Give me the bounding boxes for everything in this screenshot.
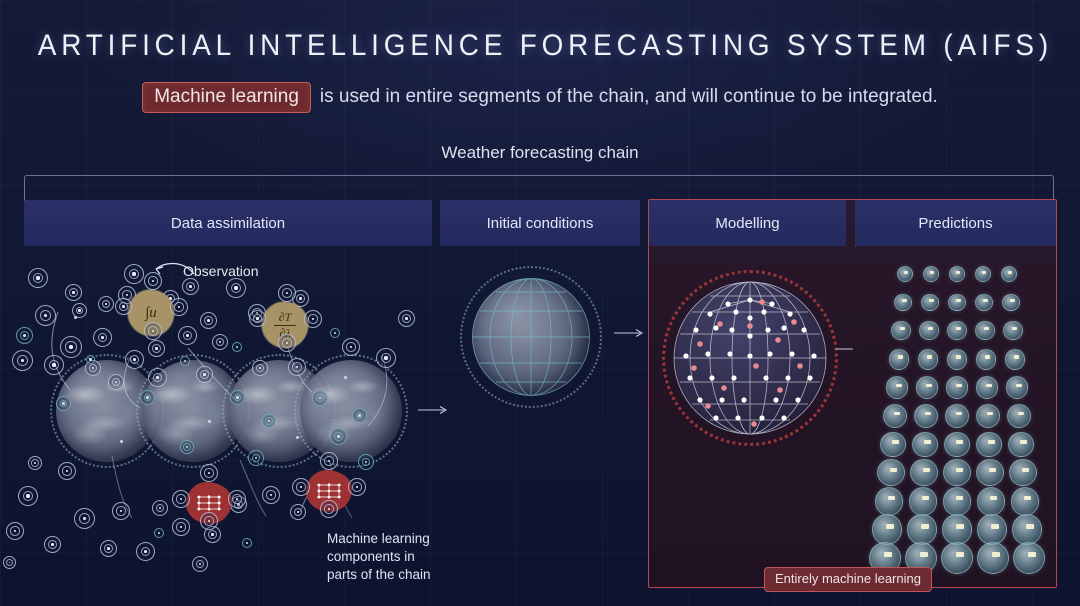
observation-ring-icon bbox=[180, 440, 194, 454]
observation-ring-icon bbox=[18, 486, 38, 506]
observation-ring-icon bbox=[152, 500, 168, 516]
observation-ring-icon bbox=[16, 327, 33, 344]
observation-dot-icon bbox=[180, 356, 190, 366]
observation-ring-icon bbox=[278, 334, 296, 352]
observation-ring-icon bbox=[182, 278, 199, 295]
observation-ring-icon bbox=[98, 296, 114, 312]
prediction-globe-icon bbox=[1011, 487, 1040, 516]
prediction-globe-icon bbox=[942, 514, 972, 544]
prediction-globe-icon bbox=[1002, 294, 1020, 312]
prediction-globe-icon bbox=[907, 514, 937, 544]
observation-ring-icon bbox=[74, 508, 95, 529]
prediction-globe-icon bbox=[897, 266, 913, 282]
prediction-globe-icon bbox=[918, 349, 939, 370]
observation-ring-icon bbox=[58, 462, 76, 480]
observation-ring-icon bbox=[136, 542, 155, 561]
observation-dot-icon bbox=[74, 316, 77, 319]
prediction-globe-icon bbox=[944, 432, 970, 458]
observation-ring-icon bbox=[288, 358, 306, 376]
predictions-globe-grid bbox=[859, 262, 1055, 582]
prediction-globe-icon bbox=[909, 487, 938, 516]
prediction-globe-icon bbox=[914, 404, 938, 428]
prediction-globe-icon bbox=[872, 514, 902, 544]
observation-ring-icon bbox=[192, 556, 208, 572]
observation-ring-icon bbox=[376, 348, 396, 368]
prediction-globe-icon bbox=[886, 376, 908, 398]
observation-ring-icon bbox=[35, 305, 56, 326]
prediction-globe-icon bbox=[916, 376, 938, 398]
observation-label: Observation bbox=[183, 263, 258, 279]
prediction-globe-icon bbox=[943, 487, 972, 516]
observation-ring-icon bbox=[228, 490, 246, 508]
observation-ring-icon bbox=[6, 522, 24, 540]
observation-ring-icon bbox=[292, 478, 310, 496]
panel-predictions bbox=[855, 248, 1055, 586]
observation-ring-icon bbox=[304, 310, 322, 328]
prediction-globe-icon bbox=[1013, 542, 1045, 574]
observation-ring-icon bbox=[230, 390, 245, 405]
observation-ring-icon bbox=[3, 556, 16, 569]
observation-ring-icon bbox=[100, 540, 117, 557]
panel-modelling bbox=[650, 248, 853, 586]
observation-ring-icon bbox=[290, 504, 306, 520]
prediction-globe-icon bbox=[977, 487, 1006, 516]
observation-ring-icon bbox=[12, 350, 33, 371]
observation-ring-icon bbox=[312, 390, 328, 406]
observation-ring-icon bbox=[44, 536, 61, 553]
stage-header-initial-conditions[interactable]: Initial conditions bbox=[440, 200, 640, 246]
prediction-globe-icon bbox=[921, 294, 939, 312]
observation-ring-icon bbox=[170, 298, 188, 316]
arrow-right-icon bbox=[418, 405, 450, 415]
subtitle-text: is used in entire segments of the chain,… bbox=[320, 86, 938, 108]
chain-label: Weather forecasting chain bbox=[0, 143, 1080, 163]
observation-ring-icon bbox=[200, 464, 218, 482]
prediction-globe-icon bbox=[910, 459, 937, 486]
observation-ring-icon bbox=[352, 408, 367, 423]
observation-ring-icon bbox=[212, 334, 228, 350]
observation-ring-icon bbox=[108, 374, 124, 390]
prediction-globe-icon bbox=[1003, 321, 1022, 340]
machine-learning-badge[interactable]: Machine learning bbox=[142, 82, 311, 113]
arrow-right-icon bbox=[614, 328, 646, 338]
observation-ring-icon bbox=[200, 312, 217, 329]
arrow-right-icon bbox=[836, 344, 853, 354]
observation-ring-icon bbox=[330, 428, 347, 445]
observation-ring-icon bbox=[348, 478, 366, 496]
prediction-globe-icon bbox=[947, 321, 966, 340]
observation-ring-icon bbox=[358, 454, 374, 470]
prediction-globe-icon bbox=[1006, 376, 1028, 398]
observation-dot-icon bbox=[208, 420, 211, 423]
observation-ring-icon bbox=[172, 518, 190, 536]
stage-header-modelling[interactable]: Modelling bbox=[649, 200, 846, 246]
observation-ring-icon bbox=[249, 310, 266, 327]
prediction-globe-icon bbox=[943, 459, 970, 486]
observation-dot-icon bbox=[120, 440, 123, 443]
subtitle-row: Machine learning is used in entire segme… bbox=[0, 82, 1080, 113]
observation-ring-icon bbox=[262, 486, 280, 504]
prediction-globe-icon bbox=[891, 321, 910, 340]
prediction-globe-icon bbox=[976, 349, 997, 370]
observation-ring-icon bbox=[252, 360, 268, 376]
prediction-globe-icon bbox=[945, 404, 969, 428]
prediction-globe-icon bbox=[912, 432, 938, 458]
observation-ring-icon bbox=[140, 390, 155, 405]
prediction-globe-icon bbox=[977, 514, 1007, 544]
observation-ring-icon bbox=[112, 502, 130, 520]
prediction-globe-icon bbox=[875, 487, 904, 516]
observation-ring-icon bbox=[320, 452, 338, 470]
observation-ring-icon bbox=[60, 336, 82, 358]
stage-header-predictions[interactable]: Predictions bbox=[855, 200, 1056, 246]
chain-bracket bbox=[24, 175, 1054, 201]
observation-dot-icon bbox=[242, 538, 252, 548]
prediction-globe-icon bbox=[923, 266, 939, 282]
observation-ring-icon bbox=[144, 272, 162, 290]
prediction-globe-icon bbox=[1008, 432, 1034, 458]
observation-dot-icon bbox=[330, 328, 340, 338]
prediction-globe-icon bbox=[1005, 349, 1026, 370]
entirely-machine-learning-badge[interactable]: Entirely machine learning bbox=[764, 567, 932, 592]
prediction-globe-icon bbox=[883, 404, 907, 428]
aifs-infographic: ARTIFICIAL INTELLIGENCE FORECASTING SYST… bbox=[0, 0, 1080, 606]
observation-ring-icon bbox=[144, 322, 162, 340]
observation-ring-icon bbox=[342, 338, 360, 356]
prediction-globe-icon bbox=[975, 266, 991, 282]
observation-ring-icon bbox=[65, 284, 82, 301]
observation-ring-icon bbox=[278, 284, 296, 302]
observation-ring-icon bbox=[125, 350, 144, 369]
prediction-globe-icon bbox=[976, 376, 998, 398]
observation-ring-icon bbox=[44, 355, 64, 375]
observation-ring-icon bbox=[196, 366, 213, 383]
prediction-globe-icon bbox=[1001, 266, 1017, 282]
modelling-sphere-icon bbox=[670, 278, 830, 438]
observation-dot-icon bbox=[344, 376, 347, 379]
observation-ring-icon bbox=[200, 512, 218, 530]
observation-ring-icon bbox=[178, 326, 197, 345]
observation-ring-icon bbox=[172, 490, 190, 508]
prediction-globe-icon bbox=[919, 321, 938, 340]
ml-components-callout: Machine learning components in parts of … bbox=[327, 530, 447, 583]
observation-ring-icon bbox=[148, 340, 165, 357]
prediction-globe-icon bbox=[976, 404, 1000, 428]
prediction-globe-icon bbox=[946, 376, 968, 398]
prediction-globe-icon bbox=[975, 321, 994, 340]
globe-icon bbox=[472, 278, 590, 396]
observation-dot-icon bbox=[232, 342, 242, 352]
prediction-globe-icon bbox=[949, 266, 965, 282]
observation-ring-icon bbox=[56, 396, 71, 411]
prediction-globe-icon bbox=[975, 294, 993, 312]
prediction-globe-icon bbox=[941, 542, 973, 574]
prediction-globe-icon bbox=[977, 542, 1009, 574]
observation-dot-icon bbox=[296, 436, 299, 439]
observation-ring-icon bbox=[320, 500, 338, 518]
latitude-longitude-grid bbox=[472, 278, 590, 396]
prediction-globe-icon bbox=[947, 349, 968, 370]
observation-dot-icon bbox=[86, 355, 95, 364]
prediction-globe-icon bbox=[877, 459, 904, 486]
prediction-globe-icon bbox=[976, 459, 1003, 486]
prediction-globe-icon bbox=[894, 294, 912, 312]
prediction-globe-icon bbox=[1012, 514, 1042, 544]
observation-ring-icon bbox=[262, 414, 276, 428]
observation-ring-icon bbox=[148, 368, 167, 387]
observation-ring-icon bbox=[398, 310, 415, 327]
math-badge-numerator: ∂T bbox=[279, 311, 292, 323]
observation-ring-icon bbox=[28, 456, 42, 470]
page-title: ARTIFICIAL INTELLIGENCE FORECASTING SYST… bbox=[38, 29, 1042, 63]
prediction-globe-icon bbox=[1007, 404, 1031, 428]
observation-ring-icon bbox=[124, 264, 144, 284]
prediction-globe-icon bbox=[976, 432, 1002, 458]
prediction-globe-icon bbox=[948, 294, 966, 312]
math-badge-glyph: ∫u bbox=[145, 305, 157, 322]
observation-ring-icon bbox=[93, 328, 112, 347]
observation-ring-icon bbox=[115, 298, 132, 315]
prediction-globe-icon bbox=[1009, 459, 1036, 486]
observation-ring-icon bbox=[248, 450, 264, 466]
prediction-globe-icon bbox=[880, 432, 906, 458]
stage-header-data-assimilation[interactable]: Data assimilation bbox=[24, 200, 432, 246]
prediction-globe-icon bbox=[889, 349, 910, 370]
observation-dot-icon bbox=[154, 528, 164, 538]
panel-initial-conditions bbox=[436, 250, 646, 606]
observation-ring-icon bbox=[28, 268, 48, 288]
observation-ring-icon bbox=[226, 278, 246, 298]
